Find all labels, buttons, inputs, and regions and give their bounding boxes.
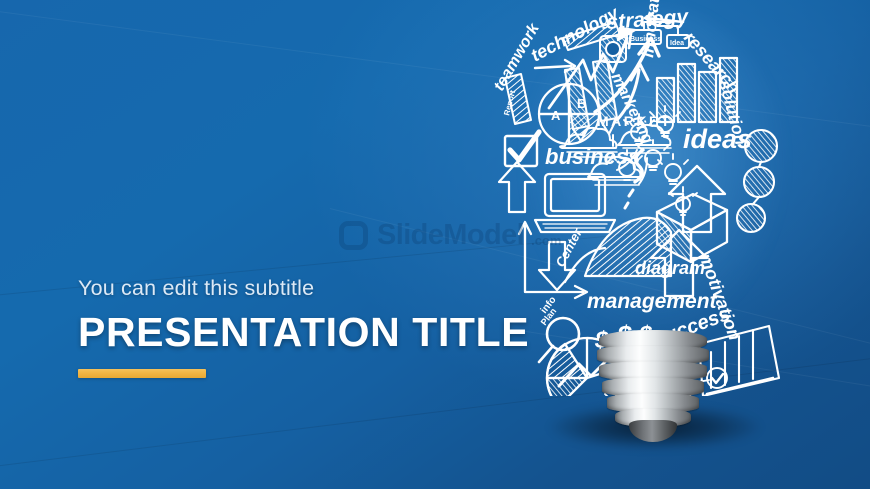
screw-base-icon [597, 330, 709, 438]
accent-bar [78, 369, 206, 378]
svg-text:ideas: ideas [683, 124, 752, 154]
rounded-square-logo-icon [339, 221, 368, 250]
slide-title[interactable]: PRESENTATION TITLE [78, 310, 548, 354]
lightbulb-graphic: strategy technology teamwork research so… [487, 0, 817, 489]
svg-text:management: management [587, 290, 718, 313]
svg-text:diagram: diagram [635, 258, 705, 278]
svg-text:Idea: Idea [670, 40, 684, 47]
presentation-slide: strategy technology teamwork research so… [0, 0, 870, 489]
svg-text:A: A [551, 108, 561, 123]
svg-text:Business: Business [630, 36, 661, 43]
slide-text-block: You can edit this subtitle PRESENTATION … [78, 276, 548, 378]
slide-subtitle[interactable]: You can edit this subtitle [78, 276, 548, 301]
